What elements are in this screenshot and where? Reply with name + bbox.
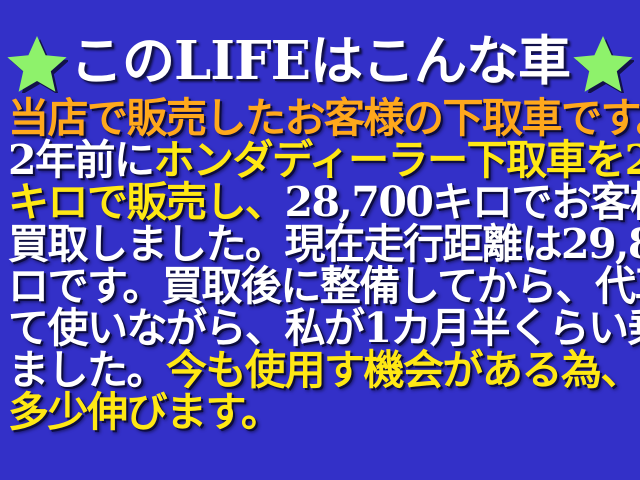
copy-segment: 買取しました。現在走行距離は29,800キ xyxy=(8,220,640,268)
copy-segment: 2年前に xyxy=(8,136,154,184)
copy-line: 買取しました。現在走行距離は29,800キ xyxy=(8,223,640,265)
copy-line: ロです。買取後に整備してから、代車とし xyxy=(8,265,640,307)
copy-segment: 28,700キロでお客様より xyxy=(285,178,640,226)
headline-text: このLIFEはこんな車 xyxy=(68,35,572,88)
copy-line: て使いながら、私が1カ月半くらい乗って xyxy=(8,307,640,349)
copy-segment: ロです。買取後に整備してから、代車とし xyxy=(8,262,640,310)
vehicle-ad-banner: このLIFEはこんな車 当店で販売したお客様の下取車です。2年前にホンダディーラ… xyxy=(0,0,640,480)
copy-line: ました。今も使用す機会がある為、距離は xyxy=(8,349,640,391)
copy-segment: 多少伸びます。 xyxy=(8,388,280,436)
copy-line: 2年前にホンダディーラー下取車を2・5万 xyxy=(8,139,640,181)
copy-line: 多少伸びます。 xyxy=(8,391,640,433)
star-icon xyxy=(6,33,68,93)
copy-segment: キロで販売し、 xyxy=(8,178,285,226)
copy-segment: て使いながら、私が1カ月半くらい乗って xyxy=(8,304,640,352)
headline: このLIFEはこんな車 xyxy=(0,26,640,96)
star-icon xyxy=(572,33,634,93)
copy-segment: ホンダディーラー下取車を2・5万 xyxy=(154,136,640,184)
body-copy: 当店で販売したお客様の下取車です。2年前にホンダディーラー下取車を2・5万キロで… xyxy=(8,97,640,433)
copy-line: キロで販売し、28,700キロでお客様より xyxy=(8,181,640,223)
copy-line: 当店で販売したお客様の下取車です。 xyxy=(8,97,640,139)
copy-segment: 当店で販売したお客様の下取車です。 xyxy=(8,94,640,142)
copy-segment: ました。 xyxy=(8,346,166,394)
copy-segment: 今も使用す機会がある為、距離は xyxy=(166,346,640,394)
